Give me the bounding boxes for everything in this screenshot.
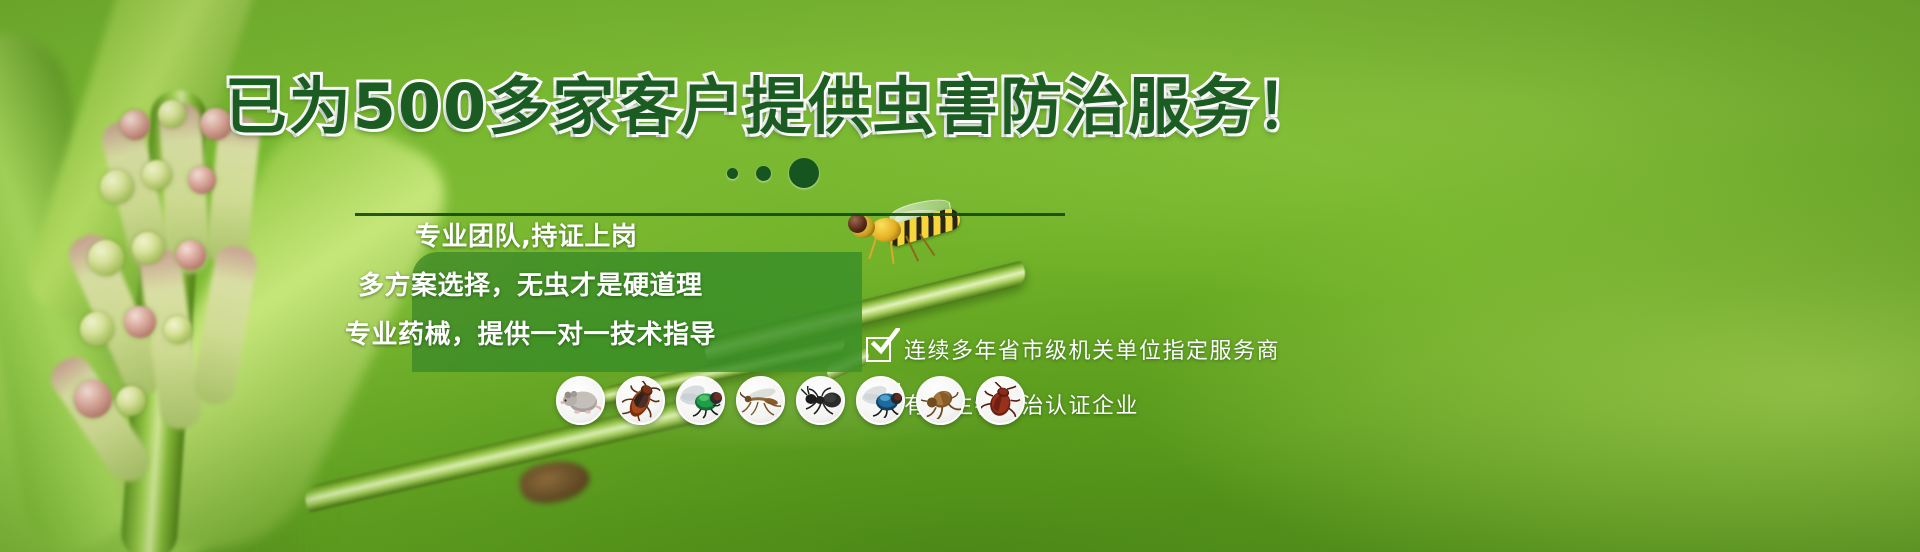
decorative-dots	[0, 158, 1545, 188]
bluefly-icon[interactable]	[856, 376, 905, 425]
bedbug-icon[interactable]	[976, 376, 1025, 425]
feature-line-1: 专业团队,持证上岗	[415, 216, 720, 253]
dot-small-icon	[727, 168, 738, 179]
dot-big-icon	[789, 158, 819, 188]
greenfly-icon[interactable]	[676, 376, 725, 425]
mouse-icon[interactable]	[556, 376, 605, 425]
dot-mid-icon	[756, 166, 771, 181]
page-title-text: 已为500多家客户提供虫害防治服务！	[225, 70, 1320, 143]
mosquito-icon[interactable]	[736, 376, 785, 425]
promo-banner: 已为500多家客户提供虫害防治服务！ 专业团队,持证上岗 多方案选择，无虫才是硬…	[0, 0, 1920, 552]
cockroach-icon[interactable]	[616, 376, 665, 425]
list-item: 连续多年省市级机关单位指定服务商	[866, 333, 1280, 365]
feature-line-2: 多方案选择，无虫才是硬道理	[358, 265, 720, 302]
flea-icon[interactable]	[916, 376, 965, 425]
feature-panel-text: 专业团队,持证上岗 多方案选择，无虫才是硬道理 专业药械，提供一对一技术指导	[340, 216, 720, 351]
pest-icon-row	[556, 376, 1025, 425]
checkbox-checked-icon	[866, 337, 891, 362]
ant-icon[interactable]	[796, 376, 845, 425]
page-title: 已为500多家客户提供虫害防治服务！	[0, 74, 1545, 139]
list-item-label: 连续多年省市级机关单位指定服务商	[904, 333, 1280, 365]
feature-line-3: 专业药械，提供一对一技术指导	[345, 314, 720, 351]
